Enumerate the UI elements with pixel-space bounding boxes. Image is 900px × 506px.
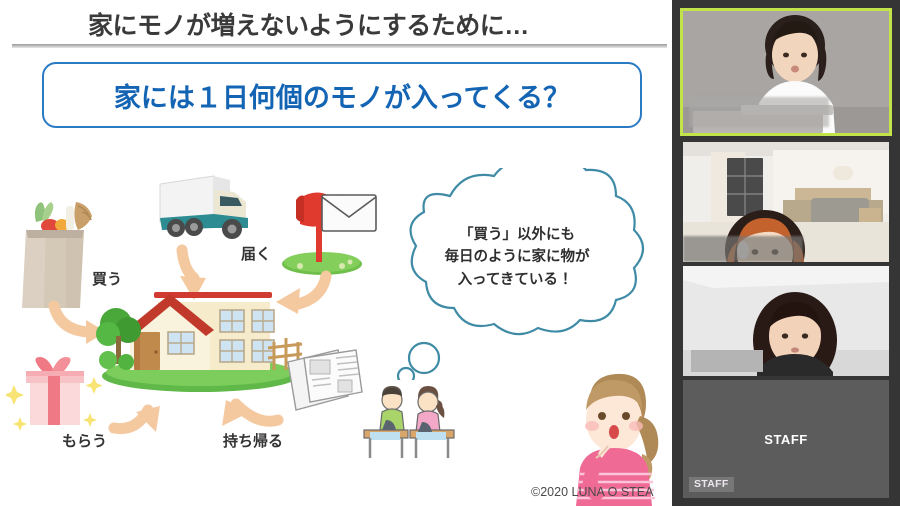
title-divider: [12, 44, 667, 48]
label-bring-home: 持ち帰る: [223, 430, 283, 451]
arrow-newspaper-to-house: [200, 382, 288, 432]
students-desk-icon: [358, 382, 458, 462]
participant-tile-1[interactable]: [683, 11, 889, 133]
participant-tile-4[interactable]: STAFF STAFF: [683, 380, 889, 498]
thought-bubble-text: 「買う」以外にも 毎日のように家に物が 入ってきている ！: [378, 224, 656, 291]
video-participant-panel: STAFF STAFF: [672, 0, 900, 506]
participant-tile-3[interactable]: [683, 266, 889, 376]
house-icon: [96, 272, 306, 392]
thinking-woman-icon: [556, 358, 672, 506]
label-receive: もらう: [62, 430, 107, 451]
gift-box-icon: [6, 355, 110, 431]
envelope-icon: [320, 191, 378, 235]
screen-root: 家にモノが増えないようにするために… 家には１日何個のモノが入ってくる？ 買う: [0, 0, 900, 506]
arrow-gift-to-house: [108, 386, 178, 438]
grocery-bag-icon: [6, 196, 98, 316]
thought-bubble: 「買う」以外にも 毎日のように家に物が 入ってきている ！: [378, 168, 656, 380]
newspaper-icon: [282, 348, 368, 418]
participant-name-badge: STAFF: [689, 477, 734, 492]
delivery-truck-icon: [152, 170, 262, 246]
page-title: 家にモノが増えないようにするために…: [88, 6, 648, 42]
label-deliver: 届く: [241, 243, 271, 264]
question-callout-box: 家には１日何個のモノが入ってくる？: [42, 62, 642, 128]
copyright-notice: ©2020 LUNA O STEA: [531, 485, 653, 499]
participant-tile-2[interactable]: [683, 142, 889, 262]
question-text: 家には１日何個のモノが入ってくる？: [114, 76, 570, 115]
presentation-slide: 家にモノが増えないようにするために… 家には１日何個のモノが入ってくる？ 買う: [0, 0, 672, 506]
